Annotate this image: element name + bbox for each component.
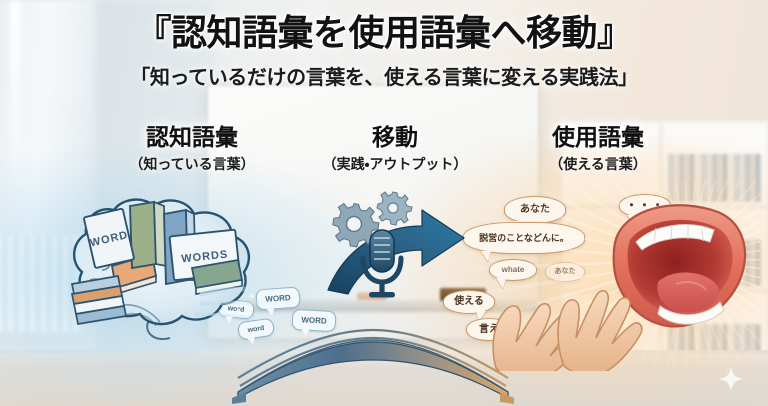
page-subtitle: 「知っているだけの言葉を、使える言葉に変える実践法」 xyxy=(0,61,768,90)
infographic-canvas: WORD WORDS xyxy=(0,0,768,406)
column-heading: 認知語彙 xyxy=(82,118,302,152)
page-title: 『認知語彙を使用語彙へ移動』 xyxy=(0,14,768,53)
column-productive: 使用語彙 （使える言葉） xyxy=(488,118,708,174)
column-subheading: （実践・アウトプット） xyxy=(285,154,505,174)
column-heading: 移動 xyxy=(285,118,505,152)
gear-icon xyxy=(377,192,412,225)
hands xyxy=(493,291,642,371)
title-block: 『認知語彙を使用語彙へ移動』 「知っているだけの言葉を、使える言葉に変える実践法… xyxy=(0,14,768,90)
column-subheading: （知っている言葉） xyxy=(82,154,302,174)
column-cognitive: 認知語彙 （知っている言葉） xyxy=(82,118,302,174)
column-subheading: （使える言葉） xyxy=(488,154,708,174)
transition-bridge xyxy=(232,318,514,406)
column-headings: 認知語彙 （知っている言葉） 移動 （実践・アウトプット） 使用語彙 （使える言… xyxy=(0,118,768,178)
column-transfer: 移動 （実践・アウトプット） xyxy=(285,118,505,174)
transfer-icon-group xyxy=(318,186,478,306)
column-heading: 使用語彙 xyxy=(488,118,708,152)
sparkle-icon xyxy=(718,366,744,392)
open-mouth xyxy=(614,205,745,326)
